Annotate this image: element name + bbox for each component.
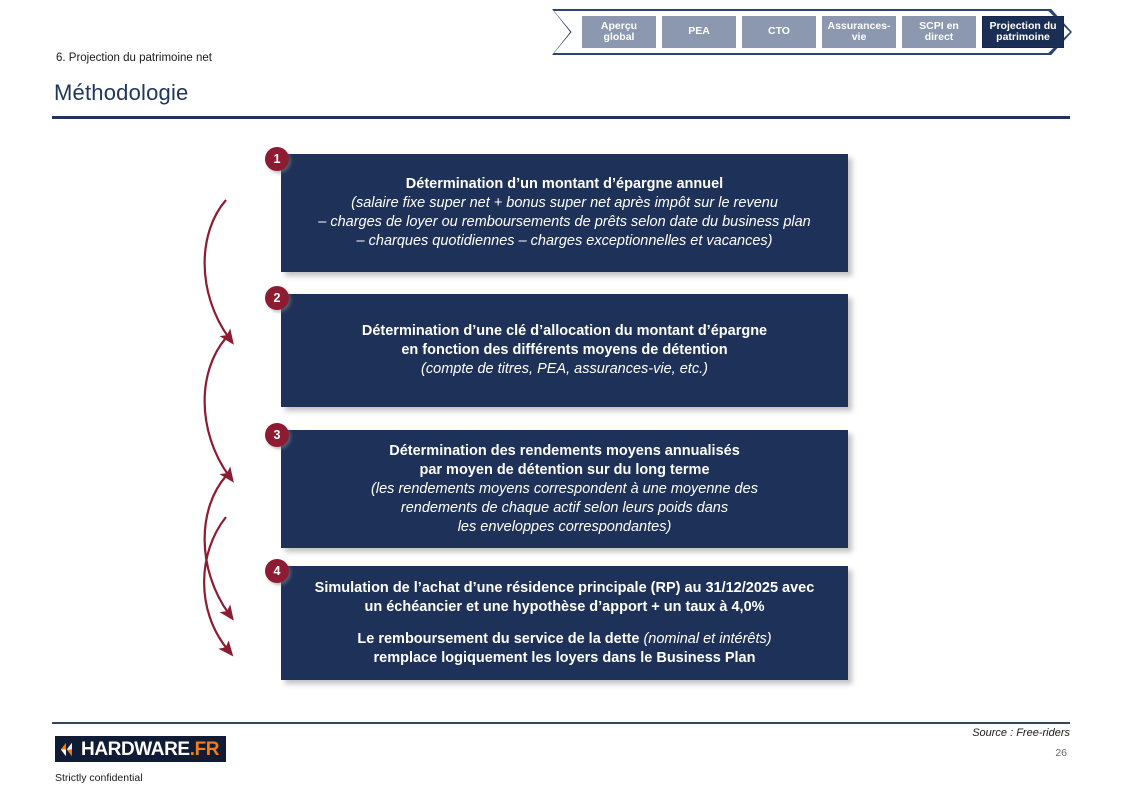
- step-box-3: Détermination des rendements moyens annu…: [281, 430, 848, 548]
- step-1-line-1: Détermination d’un montant d’épargne ann…: [318, 175, 811, 194]
- hardware-fr-logo: HARDWARE.FR: [55, 736, 226, 762]
- step-1-line-4: – charques quotidiennes – charges except…: [318, 232, 811, 251]
- step-4-line-2: un échéancier et une hypothèse d’apport …: [315, 598, 815, 617]
- step-badge-2: 2: [265, 286, 289, 310]
- page-title: Méthodologie: [54, 80, 189, 106]
- step-3-line-5: les enveloppes correspondantes): [371, 518, 758, 537]
- step-3-line-3: (les rendements moyens correspondent à u…: [371, 480, 758, 499]
- step-2-line-2: en fonction des différents moyens de dét…: [362, 341, 767, 360]
- step-badge-3: 3: [265, 423, 289, 447]
- confidentiality-notice: Strictly confidential: [55, 772, 143, 784]
- logo-text-suffix: .FR: [190, 739, 219, 760]
- nav-tab-list: Aperçu global PEA CTO Assurances- vie SC…: [582, 16, 1064, 48]
- step-3-line-4: rendements de chaque actif selon leurs p…: [371, 499, 758, 518]
- step-2-line-1: Détermination d’une clé d’allocation du …: [362, 322, 767, 341]
- step-3-line-1: Détermination des rendements moyens annu…: [371, 442, 758, 461]
- arrow-4: [204, 517, 228, 650]
- step-2-line-3: (compte de titres, PEA, assurances-vie, …: [362, 360, 767, 379]
- step-3-paragraph: Détermination des rendements moyens annu…: [371, 442, 758, 537]
- step-4-line-3-italic: (nominal et intérêts): [643, 631, 771, 647]
- section-nav-banner: Aperçu global PEA CTO Assurances- vie SC…: [552, 9, 1072, 55]
- step-1-line-2: (salaire fixe super net + bonus super ne…: [318, 194, 811, 213]
- arrow-1-to-2: [205, 200, 229, 338]
- step-1-line-3: – charges de loyer ou remboursements de …: [318, 213, 811, 232]
- title-divider: [52, 116, 1070, 119]
- arrow-2-to-3: [205, 338, 229, 476]
- step-4-paragraph-2: Le remboursement du service de la dette …: [357, 630, 771, 668]
- step-4-line-1: Simulation de l’achat d’une résidence pr…: [315, 579, 815, 598]
- step-box-2: Détermination d’une clé d’allocation du …: [281, 294, 848, 407]
- nav-tab-projection-du-patrimoine[interactable]: Projection du patrimoine: [982, 16, 1064, 48]
- step-box-4: Simulation de l’achat d’une résidence pr…: [281, 566, 848, 680]
- step-2-paragraph: Détermination d’une clé d’allocation du …: [362, 322, 767, 379]
- footer-divider: [52, 722, 1070, 724]
- nav-tab-pea[interactable]: PEA: [662, 16, 736, 48]
- step-4-line-4: remplace logiquement les loyers dans le …: [357, 649, 771, 668]
- step-badge-1: 1: [265, 147, 289, 171]
- step-3-line-2: par moyen de détention sur du long terme: [371, 461, 758, 480]
- logo-text-main: HARDWARE: [81, 739, 190, 760]
- step-box-1: Détermination d’un montant d’épargne ann…: [281, 154, 848, 272]
- step-badge-4: 4: [265, 559, 289, 583]
- nav-tab-assurances-vie[interactable]: Assurances- vie: [822, 16, 896, 48]
- section-label: 6. Projection du patrimoine net: [56, 52, 212, 64]
- logo-wordmark: HARDWARE.FR: [81, 740, 219, 759]
- source-note: Source : Free-riders: [972, 727, 1070, 739]
- step-4-line-3: Le remboursement du service de la dette …: [357, 630, 771, 649]
- nav-tab-cto[interactable]: CTO: [742, 16, 816, 48]
- arrow-3-to-4: [205, 476, 229, 614]
- page-number: 26: [1055, 747, 1067, 759]
- nav-tab-scpi-en-direct[interactable]: SCPI en direct: [902, 16, 976, 48]
- hardware-diamond-icon: [60, 741, 77, 758]
- step-4-paragraph-1: Simulation de l’achat d’une résidence pr…: [315, 579, 815, 617]
- step-1-paragraph: Détermination d’un montant d’épargne ann…: [318, 175, 811, 251]
- nav-tab-apercu-global[interactable]: Aperçu global: [582, 16, 656, 48]
- step-4-line-3-bold: Le remboursement du service de la dette: [357, 631, 643, 647]
